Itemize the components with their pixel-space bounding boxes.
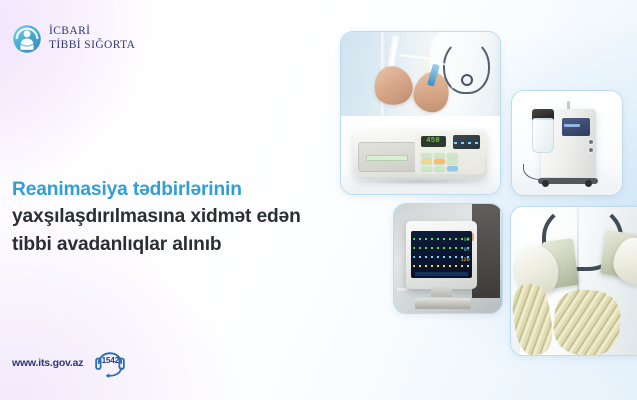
- monitor-base: [415, 298, 471, 309]
- defib-cable-right: [551, 287, 622, 355]
- hotline-number: 1542: [93, 348, 127, 378]
- ecg-trace-1: [413, 238, 471, 240]
- brand-name: İCBARİ TİBBİ SIĞORTA: [49, 25, 135, 52]
- headline-line-2: yaxşılaşdırılmasına xidmət edən: [12, 203, 352, 230]
- headline-line-1: Reanimasiya tədbirlərinin: [12, 176, 352, 203]
- ecg-trace-4: [413, 265, 471, 267]
- brand-name-line1: İCBARİ: [49, 25, 135, 39]
- monitor-case: 9897120: [406, 221, 477, 289]
- pump-key-2: [434, 153, 445, 158]
- oxygen-knob-2: [589, 148, 593, 152]
- circular-person-emblem-icon: [12, 24, 42, 54]
- pump-cassette: [358, 142, 417, 172]
- oxygen-wheel-right: [585, 180, 592, 187]
- footer: www.its.gov.az 1542: [12, 348, 127, 378]
- power-cord: [523, 164, 547, 181]
- pump-keypad: [419, 152, 481, 172]
- oxygen-concentrator-photo: [511, 90, 623, 196]
- defibrillator-image: [511, 207, 637, 355]
- infusion-pump-photo: 450: [340, 31, 501, 195]
- page-title: Reanimasiya tədbirlərinin yaxşılaşdırılm…: [12, 176, 352, 258]
- headline-line-3: tibbi avadanlıqlar alınıb: [12, 231, 352, 258]
- monitor-screen: 9897120: [411, 231, 472, 278]
- stethoscope-bell: [461, 74, 473, 86]
- ecg-trace-2: [413, 247, 471, 249]
- pump-key-4: [421, 159, 432, 164]
- brand-name-line2: TİBBİ SIĞORTA: [49, 39, 135, 53]
- iv-preparation-scene: [341, 32, 500, 116]
- pump-control-face: 450: [415, 132, 484, 174]
- hotline-badge[interactable]: 1542: [93, 348, 127, 378]
- pump-shadow: [360, 178, 484, 184]
- pump-key-6: [447, 159, 458, 164]
- infusion-pump-image: 450: [341, 32, 500, 194]
- brand-logo[interactable]: İCBARİ TİBBİ SIĞORTA: [12, 24, 135, 54]
- oxygen-knob-1: [589, 140, 593, 144]
- patient-monitor-photo: 9897120: [393, 203, 503, 314]
- pump-led-display: 450: [421, 136, 446, 147]
- vital-readout-2: 97: [464, 248, 470, 253]
- patient-monitor-image: 9897120: [394, 204, 502, 313]
- website-link[interactable]: www.its.gov.az: [12, 357, 83, 369]
- pump-key-1: [421, 153, 432, 158]
- syringe-pump-scene: 450: [341, 116, 500, 194]
- humidifier-bottle: [532, 118, 554, 153]
- vital-readout-1: 98: [464, 238, 470, 243]
- promo-banner: İCBARİ TİBBİ SIĞORTA Reanimasiya tədbirl…: [0, 0, 637, 400]
- oxygen-concentrator-image: [512, 91, 622, 195]
- monitor-neck: [431, 287, 453, 297]
- pump-key-3: [447, 153, 458, 158]
- pump-key-9: [447, 166, 458, 171]
- defibrillator-paddles-photo: [510, 206, 637, 356]
- pump-lcd-display: [453, 135, 481, 149]
- oxygen-wheel-left: [542, 180, 549, 187]
- pump-key-8: [434, 166, 445, 171]
- vital-readout-3: 120: [461, 258, 470, 263]
- pump-key-5: [434, 159, 445, 164]
- monitor-menu-bar: [415, 272, 468, 276]
- pump-body: 450: [354, 129, 488, 177]
- pump-key-7: [421, 166, 432, 171]
- oxygen-control-panel: [562, 118, 591, 136]
